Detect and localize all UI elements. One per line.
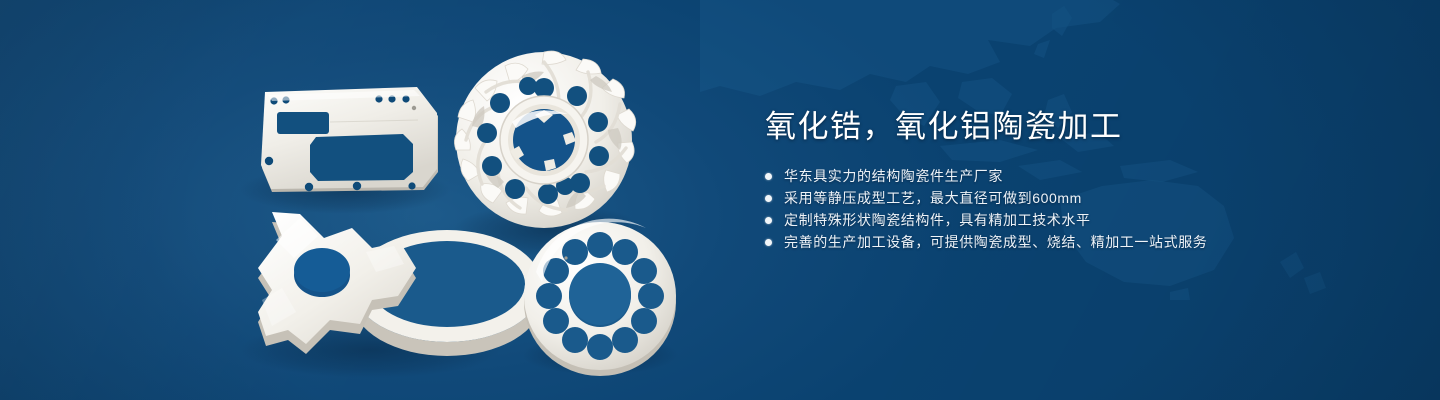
ceramic-impeller-part <box>454 51 635 228</box>
feature-text-3: 定制特殊形状陶瓷结构件，具有精加工技术水平 <box>784 209 1091 231</box>
feature-item-3: 定制特殊形状陶瓷结构件，具有精加工技术水平 <box>765 209 1405 231</box>
ceramic-processing-banner: 氧化锆，氧化铝陶瓷加工 华东具实力的结构陶瓷件生产厂家 采用等静压成型工艺，最大… <box>0 0 1440 400</box>
feature-text-2: 采用等静压成型工艺，最大直径可做到600mm <box>784 187 1082 209</box>
banner-headline: 氧化锆，氧化铝陶瓷加工 <box>765 105 1405 149</box>
feature-item-2: 采用等静压成型工艺，最大直径可做到600mm <box>765 187 1405 209</box>
bullet-dot-icon <box>765 195 772 202</box>
ceramic-products-image <box>0 0 760 400</box>
feature-text-1: 华东具实力的结构陶瓷件生产厂家 <box>784 165 1003 187</box>
banner-text-column: 氧化锆，氧化铝陶瓷加工 华东具实力的结构陶瓷件生产厂家 采用等静压成型工艺，最大… <box>765 105 1405 269</box>
feature-item-1: 华东具实力的结构陶瓷件生产厂家 <box>765 165 1405 187</box>
bullet-dot-icon <box>765 173 772 180</box>
feature-item-4: 完善的生产加工设备，可提供陶瓷成型、烧结、精加工一站式服务 <box>765 231 1405 253</box>
bullet-dot-icon <box>765 239 772 246</box>
bullet-dot-icon <box>765 217 772 224</box>
ceramic-plate-part <box>261 87 438 192</box>
feature-text-4: 完善的生产加工设备，可提供陶瓷成型、烧结、精加工一站式服务 <box>784 231 1207 253</box>
feature-list: 华东具实力的结构陶瓷件生产厂家 采用等静压成型工艺，最大直径可做到600mm 定… <box>765 165 1405 253</box>
